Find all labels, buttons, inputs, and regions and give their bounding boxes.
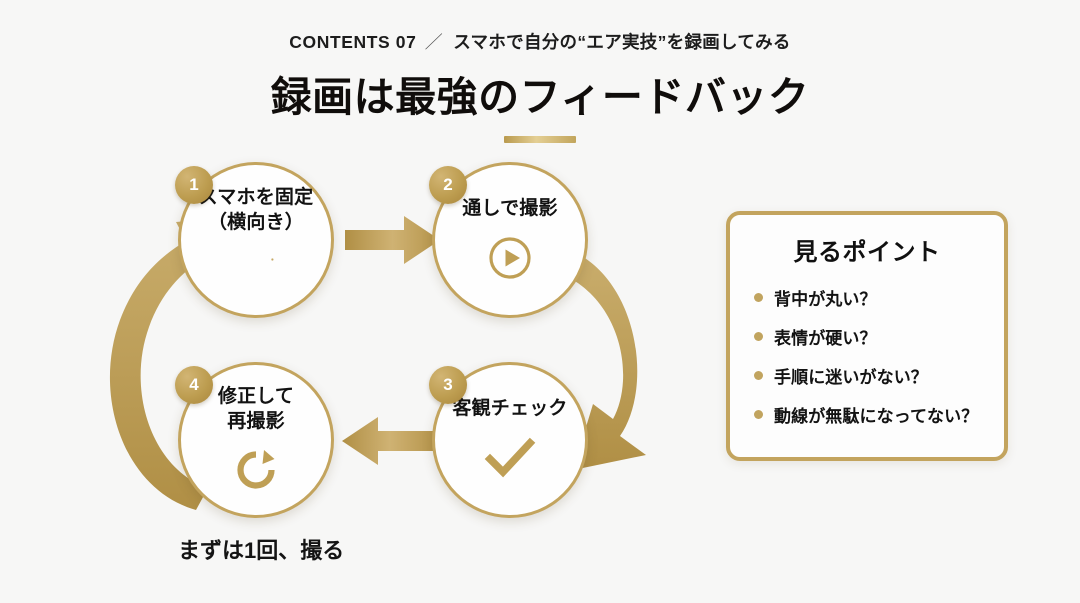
flow-caption: まずは1回、撮る [178,533,334,565]
step-number-badge: 3 [429,366,467,404]
bullet-dot-icon [754,293,763,302]
flow-step-label: 客観チェック [452,397,567,421]
list-item: 手順に迷いがない？ [754,363,1004,388]
points-panel-title: 見るポイント [730,232,1004,267]
bullet-dot-icon [754,410,763,419]
step-number-badge: 1 [175,166,213,204]
flow-step-3[interactable]: 3 客観チェック [432,362,588,518]
check-icon [484,433,536,483]
flow-step-4[interactable]: 4 修正して 再撮影 [178,362,334,518]
phone-tripod-icon [229,244,283,294]
list-item-label: 手順に迷いがない？ [774,363,928,388]
step-number-badge: 4 [175,366,213,404]
arrow-step3-to-step4 [342,417,437,465]
list-item: 動線が無駄になってない？ [754,402,1004,427]
points-panel: 見るポイント 背中が丸い？ 表情が硬い？ 手順に迷いがない？ 動線が無駄になって… [726,211,1008,461]
flow-connectors [0,0,700,603]
arrow-step1-to-step2 [345,216,440,264]
bullet-dot-icon [754,371,763,380]
process-flow-diagram: 1 スマホを固定 （横向き） 2 通しで撮影 [0,0,700,603]
step-number-badge: 2 [429,166,467,204]
list-item: 表情が硬い？ [754,324,1004,349]
list-item-label: 表情が硬い？ [774,324,877,349]
list-item: 背中が丸い？ [754,285,1004,310]
list-item-label: 動線が無駄になってない？ [774,402,978,427]
list-item-label: 背中が丸い？ [774,285,877,310]
flow-step-label: 通しで撮影 [462,197,557,221]
refresh-icon [234,445,278,495]
points-list: 背中が丸い？ 表情が硬い？ 手順に迷いがない？ 動線が無駄になってない？ [730,285,1004,427]
play-circle-icon [488,233,532,283]
flow-step-1[interactable]: 1 スマホを固定 （横向き） [178,162,334,318]
bullet-dot-icon [754,332,763,341]
flow-step-2[interactable]: 2 通しで撮影 [432,162,588,318]
flow-step-label: 修正して 再撮影 [218,385,294,434]
flow-step-label: スマホを固定 （横向き） [199,186,314,235]
